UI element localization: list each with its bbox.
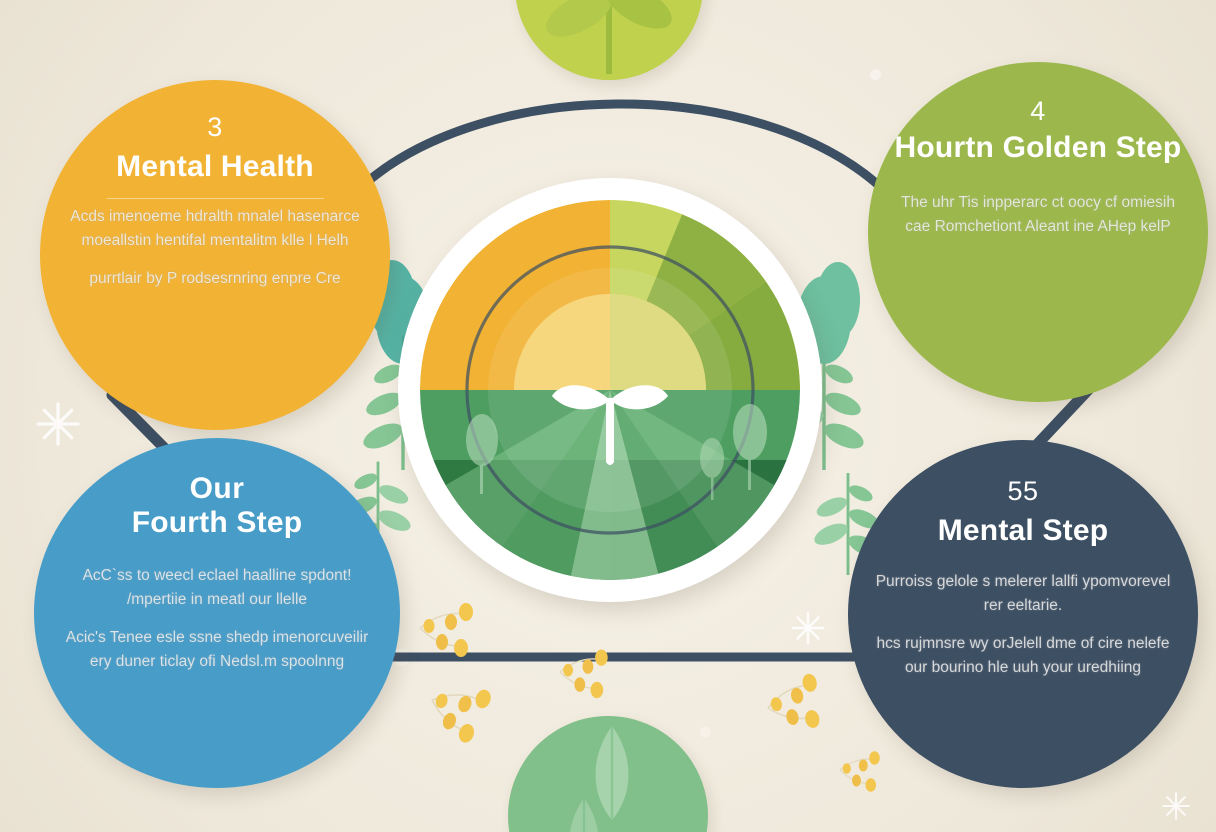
- node-number: 4: [1030, 98, 1046, 125]
- node-body-line: Acds imenoeme hdralth mnalel hasenarce m…: [70, 205, 360, 253]
- node-body-line: hcs rujmnsre wy orJelell dme of cire nel…: [874, 632, 1172, 680]
- infographic-canvas: 3 Mental Health Acds imenoeme hdralth mn…: [0, 0, 1216, 832]
- node-body-line: purrtlair by P rodsesrnring enpre Cre: [70, 267, 360, 291]
- node-body-line: Acic's Tenee esle ssne shedp imenorcuvei…: [58, 626, 376, 674]
- node-title: Mental Health: [102, 150, 328, 184]
- node-body-line: Purroiss gelole s melerer lallfi ypomvor…: [874, 570, 1172, 618]
- node-body: The uhr Tis inpperarc ct oocy cf omiesih…: [868, 191, 1208, 253]
- center-emblem-art: [420, 200, 800, 580]
- node-body-line: AcC`ss to weecl eclael haalline spdont! …: [58, 564, 376, 612]
- node-title: Hourtn Golden Step: [881, 131, 1196, 165]
- node-body: AcC`ss to weecl eclael haalline spdont! …: [34, 564, 400, 688]
- node-title: Fourth Step: [118, 506, 317, 540]
- node-body-line: The uhr Tis inpperarc ct oocy cf omiesih…: [898, 191, 1178, 239]
- node-divider: [107, 198, 324, 199]
- sunrise-landscape-illustration: [420, 200, 800, 580]
- node-number: 3: [207, 114, 223, 141]
- node-number: Our: [190, 474, 245, 504]
- node-mental-health[interactable]: 3 Mental Health Acds imenoeme hdralth mn…: [40, 80, 390, 430]
- node-title: Mental Step: [924, 514, 1123, 548]
- node-body: Purroiss gelole s melerer lallfi ypomvor…: [848, 570, 1198, 694]
- node-fourth-step[interactable]: Our Fourth Step AcC`ss to weecl eclael h…: [34, 438, 400, 788]
- node-body: Acds imenoeme hdralth mnalel hasenarce m…: [40, 205, 390, 305]
- center-emblem: [398, 178, 822, 602]
- node-mental-step[interactable]: 55 Mental Step Purroiss gelole s melerer…: [848, 440, 1198, 788]
- node-number: 55: [1007, 478, 1038, 505]
- node-golden-step[interactable]: 4 Hourtn Golden Step The uhr Tis inppera…: [868, 62, 1208, 402]
